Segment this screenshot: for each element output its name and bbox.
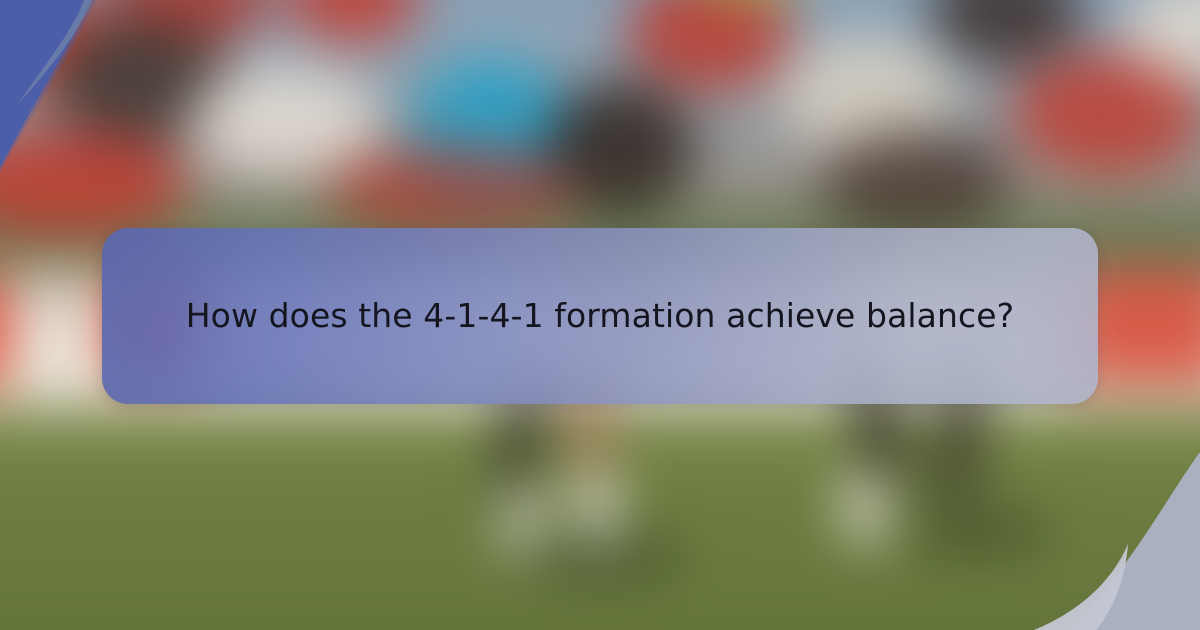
- question-text: How does the 4-1-4-1 formation achieve b…: [102, 287, 1098, 345]
- question-card-banner: How does the 4-1-4-1 formation achieve b…: [0, 0, 1200, 630]
- player-shadow-1: [518, 533, 683, 572]
- player-shadow-2: [902, 510, 1053, 549]
- crowd-blob-red-7: [325, 143, 572, 237]
- crowd-blob-white-1: [188, 65, 380, 174]
- question-card[interactable]: How does the 4-1-4-1 formation achieve b…: [102, 228, 1098, 404]
- crowd-blob-dark-4: [820, 128, 1012, 237]
- ad-board-red-left: [0, 276, 10, 385]
